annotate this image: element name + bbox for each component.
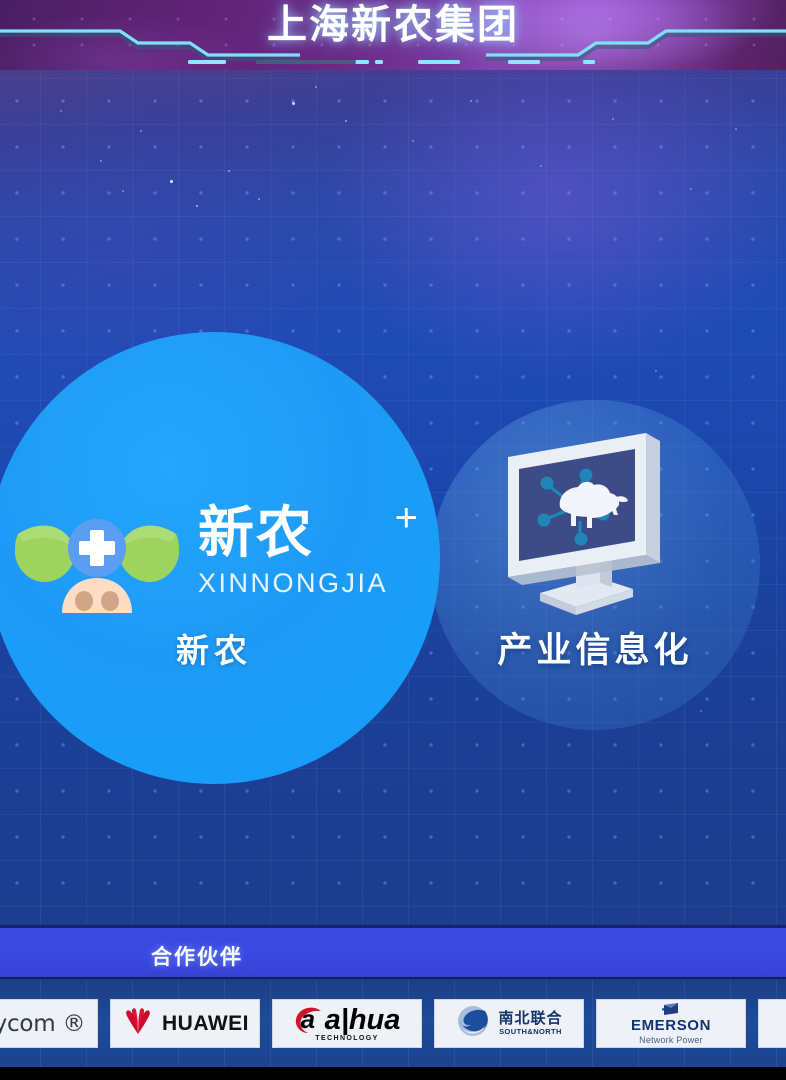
xinnong-wordmark: 新农 + XINNONGJIA bbox=[198, 506, 388, 599]
page-header: 上海新农集团 bbox=[0, 0, 786, 70]
wordmark-plus: + bbox=[395, 498, 418, 538]
south-north-en: SOUTH&NORTH bbox=[499, 1027, 562, 1036]
dahua-subtext: TECHNOLOGY bbox=[315, 1035, 378, 1042]
main-stage: 产业信息化 bbox=[0, 70, 786, 925]
wordmark-en: XINNONGJIA bbox=[198, 568, 388, 599]
card-industry-informatization[interactable]: 产业信息化 bbox=[430, 400, 760, 730]
dahua-swoosh-icon: a bbox=[294, 1005, 324, 1035]
partner-logo-polycom[interactable]: Polycom ® bbox=[0, 999, 98, 1048]
huawei-petal-icon bbox=[121, 1006, 155, 1041]
partner-logo-emerson[interactable]: EMERSON Network Power bbox=[596, 999, 746, 1048]
card-label-xinnong: 新农 bbox=[0, 624, 440, 672]
emerson-box-icon bbox=[661, 1002, 681, 1017]
signage-screen: 上海新农集团 bbox=[0, 0, 786, 1080]
emerson-subtext: Network Power bbox=[639, 1035, 703, 1045]
card-xinnong[interactable]: 新农 + XINNONGJIA 新农 bbox=[0, 332, 440, 784]
partners-title: 合作伙伴 bbox=[0, 941, 590, 971]
registered-icon: ® bbox=[63, 1011, 86, 1037]
xinnong-brand-lockup: 新农 + XINNONGJIA bbox=[2, 482, 422, 622]
partner-logo-huawei[interactable]: HUAWEI bbox=[110, 999, 260, 1048]
monitor-pig-network-icon bbox=[488, 425, 703, 630]
partners-logo-strip: Polycom ® HUAWEI bbox=[0, 977, 786, 1069]
page-title: 上海新农集团 bbox=[0, 0, 786, 50]
bottom-black-bar bbox=[0, 1067, 786, 1080]
polycom-wordmark: Polycom bbox=[0, 1011, 56, 1037]
partner-logo-globe[interactable] bbox=[758, 999, 786, 1048]
south-north-cn: 南北联合 bbox=[498, 1011, 562, 1027]
partner-logo-list: Polycom ® HUAWEI bbox=[0, 999, 786, 1048]
dahua-wordmark: a|hua bbox=[325, 1006, 401, 1035]
partner-logo-dahua[interactable]: a a|hua TECHNOLOGY bbox=[272, 999, 422, 1048]
emerson-wordmark: EMERSON bbox=[631, 1018, 711, 1033]
huawei-wordmark: HUAWEI bbox=[162, 1012, 249, 1036]
wordmark-cn: 新农 bbox=[198, 506, 388, 562]
swirl-globe-icon bbox=[455, 1004, 491, 1043]
partner-logo-south-north[interactable]: 南北联合 SOUTH&NORTH bbox=[434, 999, 584, 1048]
pig-leaf-plus-logo bbox=[2, 482, 192, 622]
partners-title-bar: 合作伙伴 bbox=[0, 925, 786, 977]
card-label-industry: 产业信息化 bbox=[430, 622, 760, 673]
